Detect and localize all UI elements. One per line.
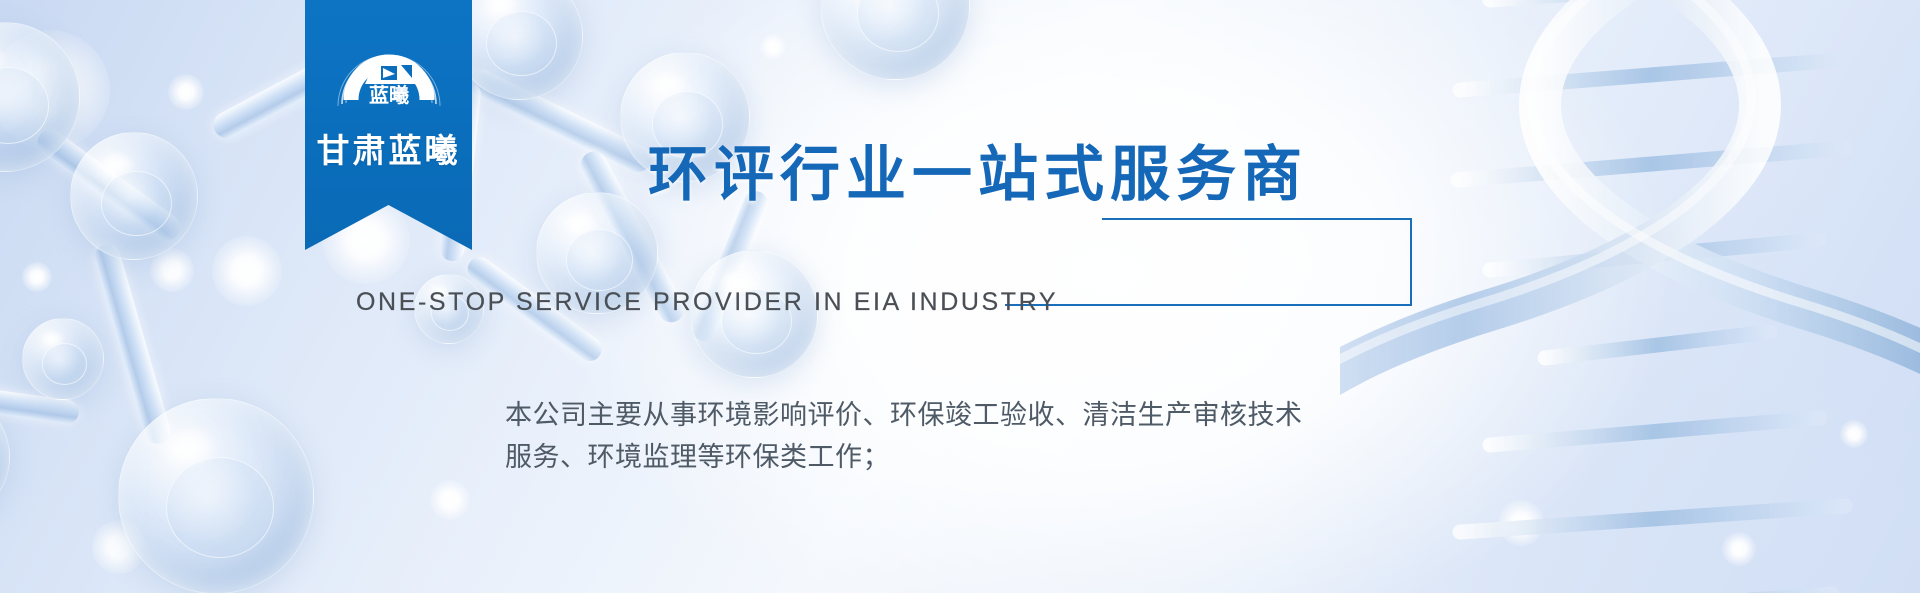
hero-banner: 蓝曦 甘肃蓝曦 环评行业一站式服务商 ONE-STOP SERVICE PROV…	[0, 0, 1920, 593]
glass-molecule-spheres	[118, 398, 314, 593]
bokeh-light-dots	[1498, 500, 1544, 546]
logo-mark-text: 蓝曦	[369, 83, 409, 107]
bokeh-light-dots	[760, 34, 786, 60]
bokeh-light-dots	[1722, 532, 1756, 566]
bokeh-light-dots	[212, 236, 282, 306]
company-ribbon-badge: 蓝曦 甘肃蓝曦	[305, 0, 472, 250]
glass-molecule-bond	[92, 241, 174, 446]
corner-bracket-line	[1410, 218, 1412, 306]
banner-subline-english: ONE-STOP SERVICE PROVIDER IN EIA INDUSTR…	[356, 288, 1058, 317]
bokeh-light-dots	[0, 30, 110, 150]
glass-molecule-spheres	[22, 318, 104, 400]
description-line: 本公司主要从事环境影响评价、环保竣工验收、清洁生产审核技术	[505, 395, 1303, 437]
dna-double-helix	[1340, 0, 1920, 593]
glass-molecule-bond	[689, 188, 771, 345]
glass-molecule-spheres	[0, 22, 80, 172]
glass-molecule-spheres	[70, 132, 198, 260]
bokeh-light-dots	[150, 248, 194, 292]
bokeh-light-dots	[22, 262, 52, 292]
glass-molecule-bond	[0, 382, 80, 425]
bokeh-light-dots	[1840, 420, 1868, 448]
bokeh-light-dots	[92, 520, 146, 574]
banner-description: 本公司主要从事环境影响评价、环保竣工验收、清洁生产审核技术 服务、环境监理等环保…	[505, 395, 1303, 479]
lanxi-circular-emblem-logo: 蓝曦	[331, 14, 447, 130]
banner-headline: 环评行业一站式服务商	[648, 142, 1308, 208]
description-line: 服务、环境监理等环保类工作；	[505, 437, 1303, 479]
glass-molecule-bond	[464, 65, 655, 176]
glass-molecule-spheres	[455, 0, 583, 100]
glass-molecule-spheres	[0, 392, 10, 522]
glass-molecule-spheres	[820, 0, 970, 80]
glass-molecule-bond	[32, 124, 185, 245]
company-short-name: 甘肃蓝曦	[305, 124, 472, 172]
corner-bracket-line	[1102, 218, 1412, 220]
bokeh-light-dots	[430, 480, 470, 520]
corner-bracket-line	[1005, 304, 1412, 306]
bokeh-light-dots	[168, 74, 204, 110]
